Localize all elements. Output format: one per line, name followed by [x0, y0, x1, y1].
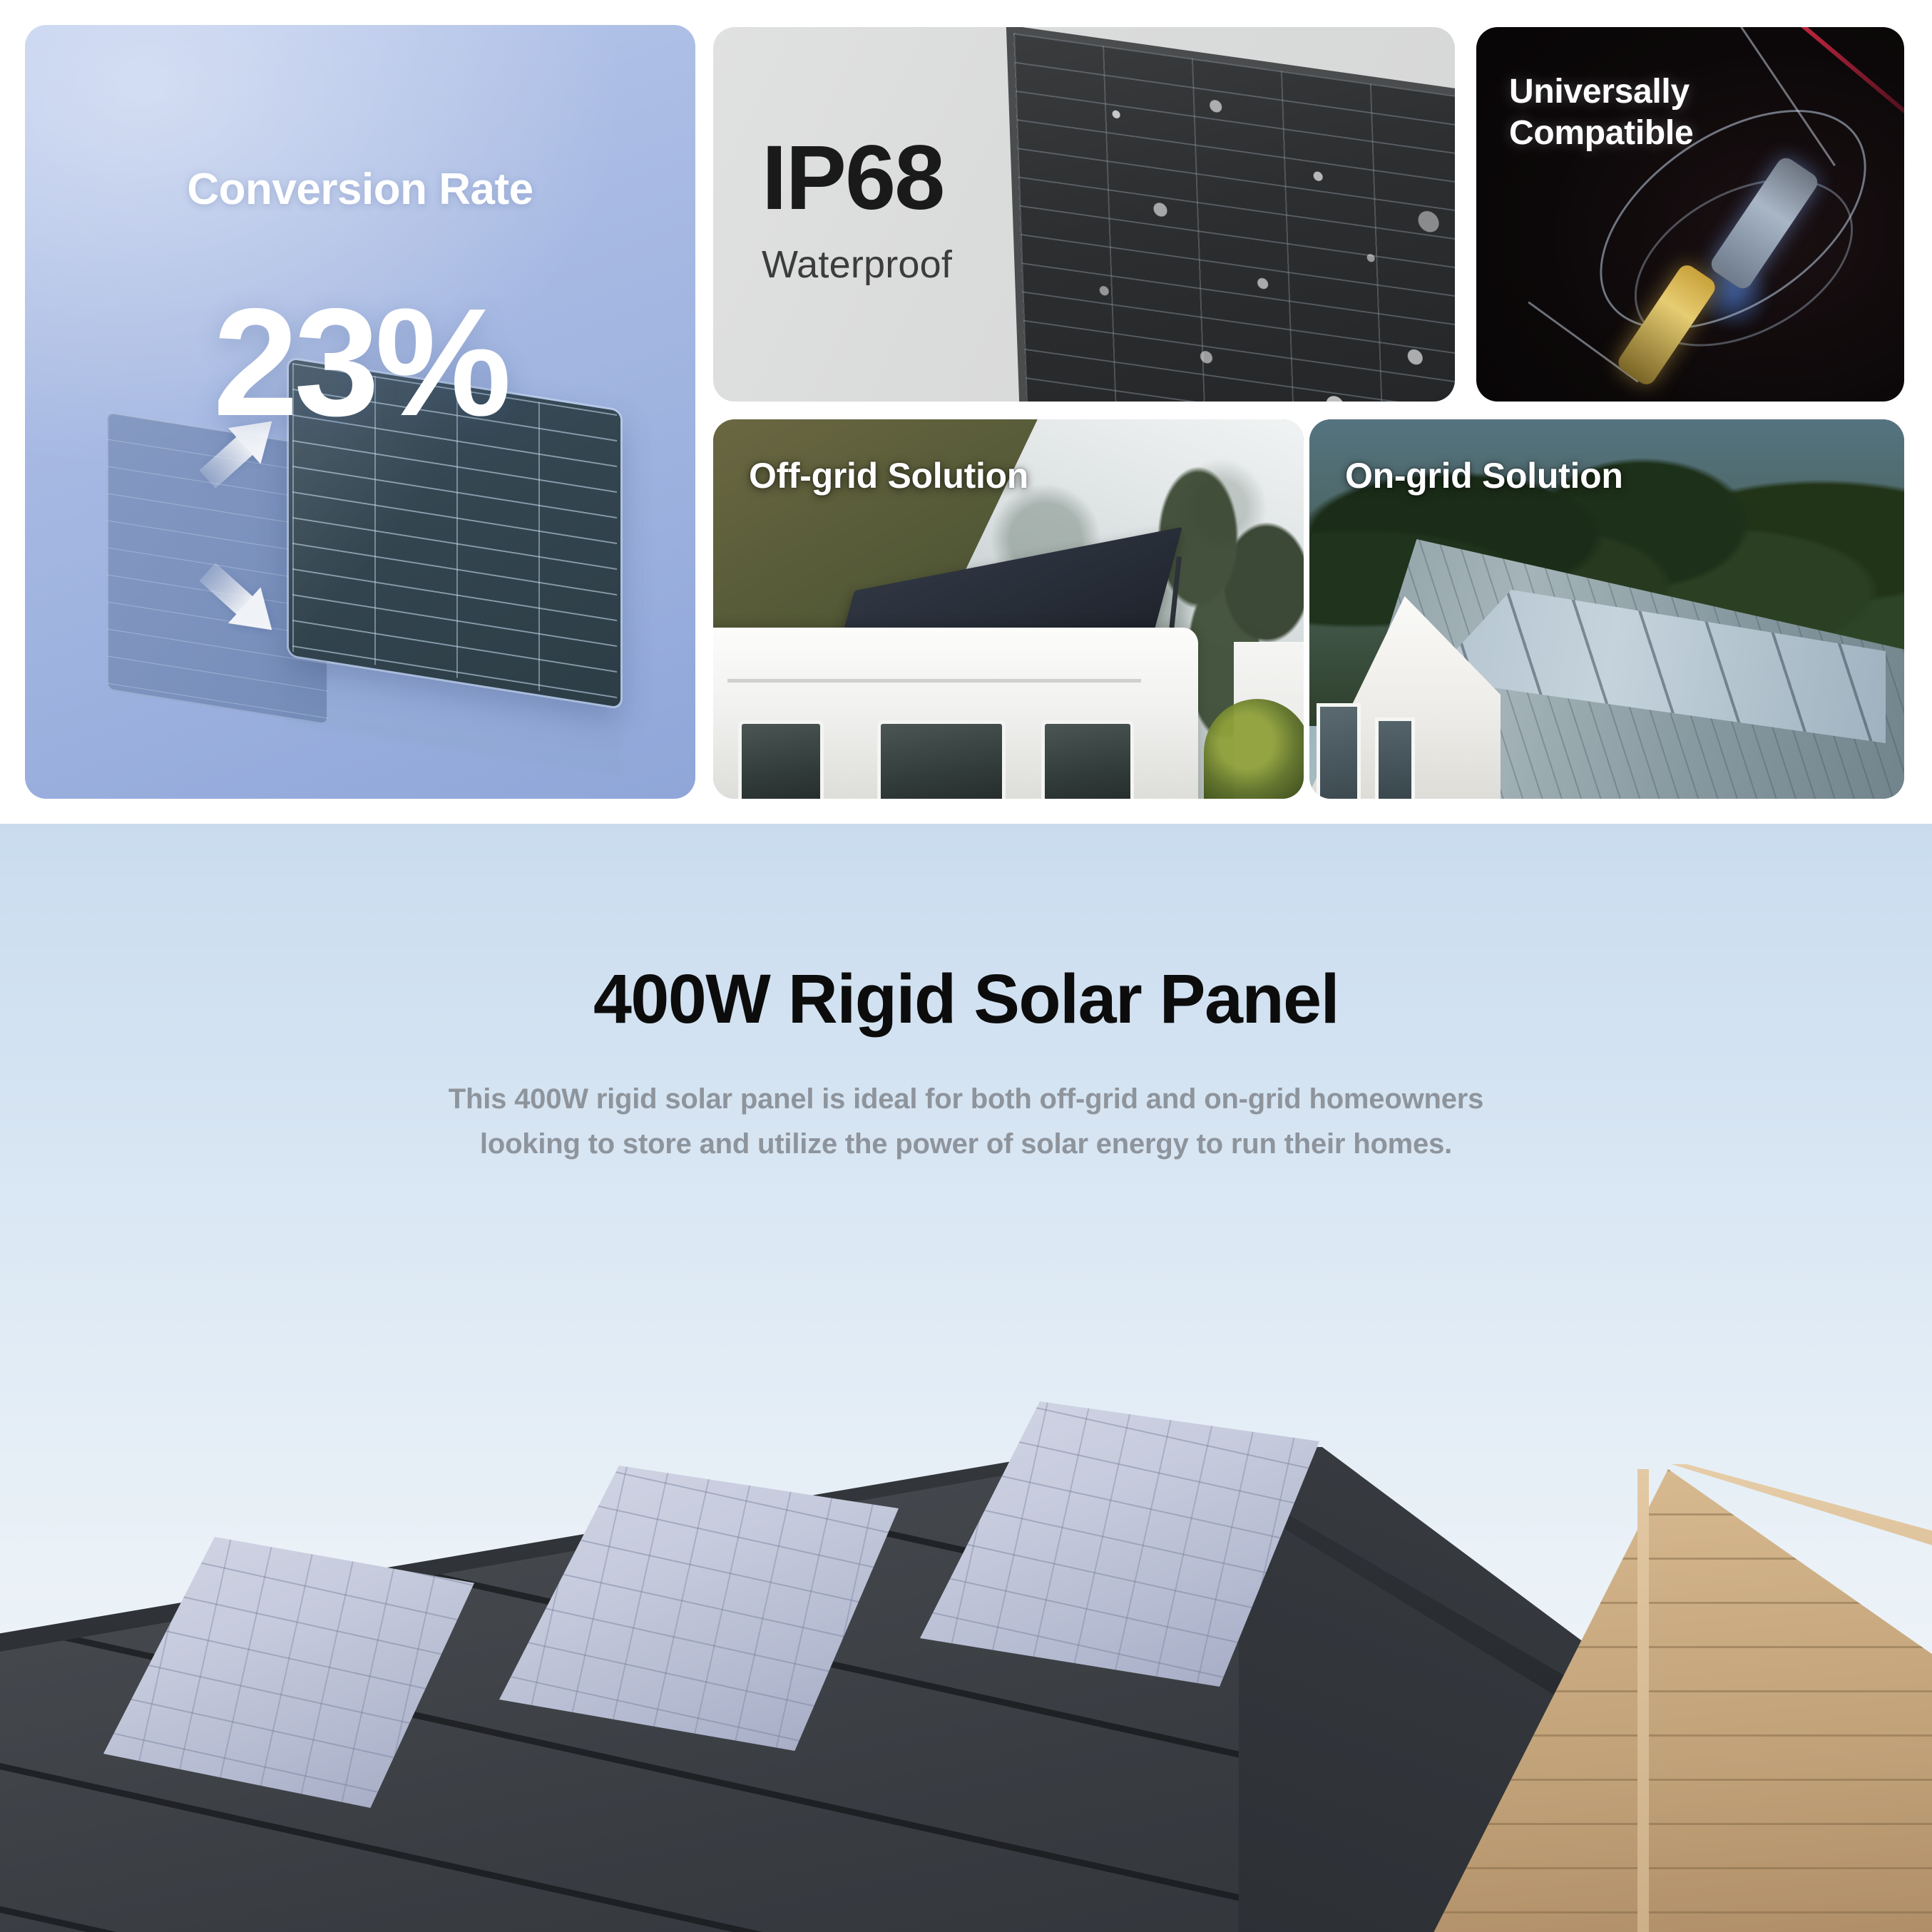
door-icon — [1317, 703, 1361, 799]
feature-card-conversion-rate[interactable]: Conversion Rate 23% — [25, 25, 695, 799]
gable-trim-icon — [1637, 1469, 1649, 1932]
page-subtitle-line2: looking to store and utilize the power o… — [314, 1122, 1619, 1167]
page-subtitle: This 400W rigid solar panel is ideal for… — [314, 1077, 1619, 1167]
feature-card-waterproof[interactable]: IP68 Waterproof — [713, 27, 1455, 402]
conversion-rate-title: Conversion Rate — [25, 164, 695, 215]
feature-card-universally-compatible[interactable]: Universally Compatible — [1476, 27, 1904, 402]
window-icon — [1375, 717, 1415, 799]
offgrid-solution-label: Off-grid Solution — [749, 455, 1028, 496]
page-title: 400W Rigid Solar Panel — [0, 959, 1932, 1039]
ongrid-solution-label: On-grid Solution — [1345, 455, 1623, 496]
feature-card-ongrid-solution[interactable]: On-grid Solution — [1309, 419, 1904, 799]
conversion-rate-value: 23% — [25, 285, 695, 439]
ip-rating-value: IP68 — [762, 133, 952, 224]
compatible-label-line2: Compatible — [1509, 113, 1693, 154]
compatible-label-line1: Universally — [1509, 71, 1693, 113]
wet-solar-panel-icon — [1013, 33, 1455, 402]
feature-card-grid: Conversion Rate 23% IP68 Waterproof Univ… — [0, 0, 1932, 820]
rv-camper-icon — [713, 628, 1198, 799]
hero-section: 400W Rigid Solar Panel This 400W rigid s… — [0, 824, 1932, 1932]
bush-icon — [1204, 699, 1304, 799]
waterproof-label: Waterproof — [762, 242, 952, 287]
page-subtitle-line1: This 400W rigid solar panel is ideal for… — [314, 1077, 1619, 1122]
feature-card-offgrid-solution[interactable]: Off-grid Solution — [713, 419, 1304, 799]
